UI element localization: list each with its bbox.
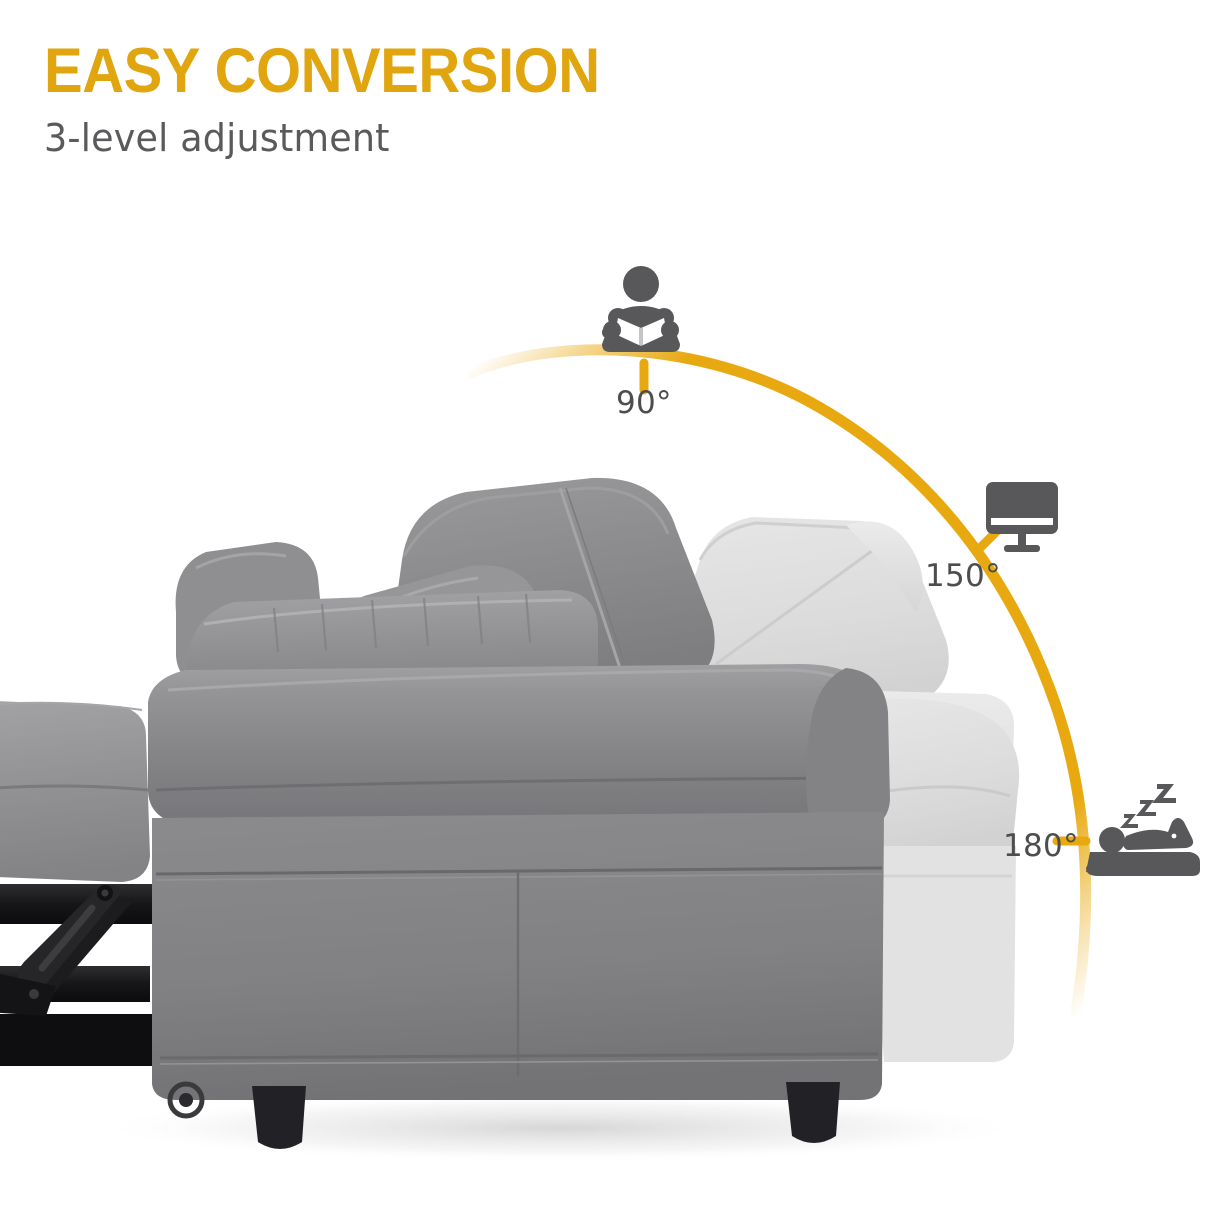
- angle-label-180: 180°: [1003, 828, 1079, 864]
- person-reading-icon: [602, 266, 680, 352]
- angle-label-90: 90°: [616, 385, 672, 421]
- infographic-canvas: EASY CONVERSION 3-level adjustment: [0, 0, 1214, 1214]
- person-sleeping-icon: [1086, 784, 1200, 876]
- mode-icons: [0, 0, 1214, 1214]
- tv-monitor-icon: [986, 482, 1058, 552]
- angle-label-150: 150°: [925, 558, 1001, 594]
